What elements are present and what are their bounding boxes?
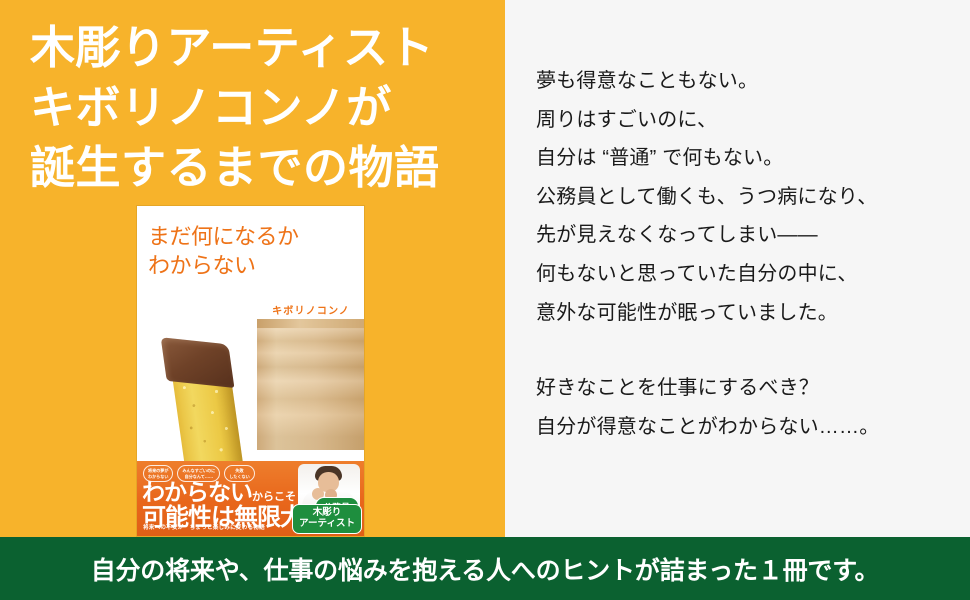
body-paragraph-gap bbox=[536, 332, 956, 369]
headline-line-2: キボリノコンノが bbox=[30, 78, 490, 138]
book-author: キボリノコンノ bbox=[272, 302, 350, 317]
obi-caption-part-1: 将来への不安が bbox=[143, 525, 184, 531]
wood-block-top-face bbox=[257, 319, 364, 328]
body-line-1: 夢も得意なこともない。 bbox=[536, 62, 956, 101]
footer-banner: 自分の将来や、仕事の悩みを抱える人へのヒントが詰まった１冊です。 bbox=[0, 537, 970, 600]
body-line-7: 意外な可能性が眠っていました。 bbox=[536, 294, 956, 333]
headline-line-3: 誕生するまでの物語 bbox=[30, 138, 490, 198]
book-cover[interactable]: まだ何になるか わからない キボリノコンノ 将来の夢が わからない みんなすごい… bbox=[137, 206, 364, 536]
headline-line-1: 木彫りアーティスト bbox=[30, 18, 490, 78]
body-line-4: 公務員として働くも、うつ病になり、 bbox=[536, 178, 956, 217]
obi-headline-small: からこそ bbox=[252, 491, 296, 503]
obi-headline-line-1: わからないからこそ bbox=[142, 481, 303, 504]
book-cover-inner: まだ何になるか わからない キボリノコンノ 将来の夢が わからない みんなすごい… bbox=[137, 206, 364, 536]
book-obi-band: 将来の夢が わからない みんなすごいのに 自分なんて…… 失敗 したくない わか… bbox=[137, 461, 364, 536]
wood-block-image bbox=[257, 319, 364, 450]
page-title: 木彫りアーティスト キボリノコンノが 誕生するまでの物語 bbox=[30, 18, 490, 198]
body-line-5: 先が見えなくなってしまい—— bbox=[536, 216, 956, 255]
obi-headline-main: わからない bbox=[142, 479, 252, 505]
badge-role: 木彫り アーティスト bbox=[292, 504, 362, 534]
body-line-6: 何もないと思っていた自分の中に、 bbox=[536, 255, 956, 294]
obi-caption-part-2: ちょっと楽しみに変わる物語 bbox=[190, 525, 265, 531]
cake-chocolate-top bbox=[161, 337, 235, 388]
right-text-panel: 夢も得意なこともない。 周りはすごいのに、 自分は “普通” で何もない。 公務… bbox=[505, 0, 970, 537]
footer-text: 自分の将来や、仕事の悩みを抱える人へのヒントが詰まった１冊です。 bbox=[91, 551, 880, 587]
book-title: まだ何になるか わからない bbox=[148, 222, 358, 280]
promo-banner-root: 木彫りアーティスト キボリノコンノが 誕生するまでの物語 まだ何になるか わから… bbox=[0, 0, 970, 600]
left-orange-panel: 木彫りアーティスト キボリノコンノが 誕生するまでの物語 まだ何になるか わから… bbox=[0, 0, 505, 537]
obi-caption: 将来への不安がちょっと楽しみに変わる物語 bbox=[143, 523, 265, 531]
body-line-9: 自分が得意なことがわからない……。 bbox=[536, 408, 956, 447]
body-copy: 夢も得意なこともない。 周りはすごいのに、 自分は “普通” で何もない。 公務… bbox=[536, 62, 956, 446]
book-title-line-2: わからない bbox=[148, 251, 358, 280]
body-line-3: 自分は “普通” で何もない。 bbox=[536, 139, 956, 178]
book-title-line-1: まだ何になるか bbox=[148, 224, 299, 249]
body-line-2: 周りはすごいのに、 bbox=[536, 101, 956, 140]
body-line-8: 好きなことを仕事にするべき？ bbox=[536, 369, 956, 408]
